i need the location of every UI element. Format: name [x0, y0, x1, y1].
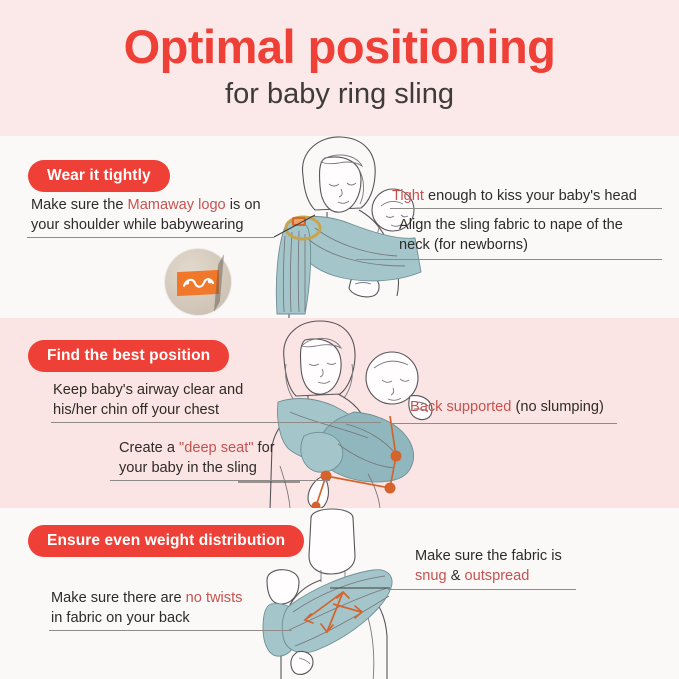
callout-line: Tight enough to kiss your baby's head — [392, 186, 662, 206]
callout-line: Make sure the Mamaway logo is on — [31, 195, 296, 215]
callout-line: Align the sling fabric to nape of the — [399, 215, 649, 235]
mamaway-logo-tag — [177, 270, 219, 296]
section-wear-it-tightly: Wear it tightly Make sure the Mamaway lo… — [0, 136, 679, 318]
callout-rule-align-sling-nape — [356, 259, 662, 260]
callout-rule-airway-clear — [51, 422, 381, 423]
section-badge-ensure-even-weight-distribution: Ensure even weight distribution — [28, 525, 304, 557]
callout-line: Keep baby's airway clear and — [53, 380, 303, 400]
page-subtitle: for baby ring sling — [0, 79, 679, 111]
mamaway-logo-shadow — [214, 254, 224, 312]
callout-line: snug & outspread — [415, 566, 665, 586]
callout-mamaway-logo: Make sure the Mamaway logo is on your sh… — [31, 195, 296, 235]
callout-airway-clear: Keep baby's airway clear and his/her chi… — [53, 380, 303, 420]
callout-line: neck (for newborns) — [399, 235, 649, 255]
leader-line-snug-outspread — [330, 576, 400, 604]
callout-no-twists: Make sure there are no twists in fabric … — [51, 588, 291, 628]
callout-line: in fabric on your back — [51, 608, 291, 628]
header: Optimal positioning for baby ring sling — [0, 0, 679, 136]
callout-back-supported: Back supported (no slumping) — [410, 397, 660, 417]
callout-line: Make sure the fabric is — [415, 546, 665, 566]
mamaway-logo-swatch — [165, 249, 231, 315]
callout-tight-enough: Tight enough to kiss your baby's head — [392, 186, 662, 206]
callout-line: Back supported (no slumping) — [410, 397, 660, 417]
callout-align-sling-nape: Align the sling fabric to nape of the ne… — [399, 215, 649, 255]
section-find-the-best-position: Find the best position Keep baby's airwa… — [0, 318, 679, 508]
section-badge-wear-it-tightly: Wear it tightly — [28, 160, 170, 192]
callout-line: Create a "deep seat" for — [119, 438, 349, 458]
section-badge-find-the-best-position: Find the best position — [28, 340, 229, 372]
callout-rule-no-twists — [49, 630, 292, 631]
callout-rule-deep-seat — [110, 480, 330, 481]
callout-rule-back-supported — [390, 423, 617, 424]
infographic-root: Optimal positioning for baby ring sling — [0, 0, 679, 679]
callout-line: his/her chin off your chest — [53, 400, 303, 420]
page-title: Optimal positioning — [0, 22, 679, 71]
mamaway-swirl-icon — [177, 270, 219, 296]
callout-line: your baby in the sling — [119, 458, 349, 478]
callout-line: your shoulder while babywearing — [31, 215, 296, 235]
callout-rule-mamaway-logo — [27, 237, 274, 238]
section-ensure-even-weight-distribution: Ensure even weight distribution Make sur… — [0, 508, 679, 679]
callout-rule-tight-enough — [390, 208, 662, 209]
callout-deep-seat: Create a "deep seat" for your baby in th… — [119, 438, 349, 478]
callout-rule-snug-outspread — [388, 589, 576, 590]
callout-snug-outspread: Make sure the fabric is snug & outspread — [415, 546, 665, 586]
callout-line: Make sure there are no twists — [51, 588, 291, 608]
